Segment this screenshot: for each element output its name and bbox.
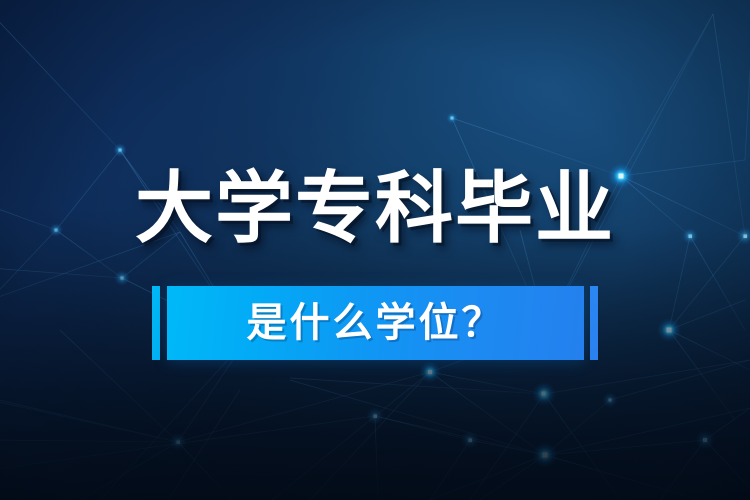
- page-title-text: 大学专科毕业: [135, 163, 615, 255]
- subtitle-banner: 是什么学位？: [152, 286, 598, 360]
- accent-bar-left-icon: [152, 286, 160, 360]
- poster-canvas: 大学专科毕业 是什么学位？: [0, 0, 750, 500]
- accent-gap-left: [160, 286, 167, 360]
- subtitle-text: 是什么学位？: [247, 300, 505, 346]
- subtitle-banner-body: 是什么学位？: [167, 286, 584, 360]
- page-title: 大学专科毕业: [0, 163, 750, 255]
- accent-bar-right-icon: [590, 286, 598, 360]
